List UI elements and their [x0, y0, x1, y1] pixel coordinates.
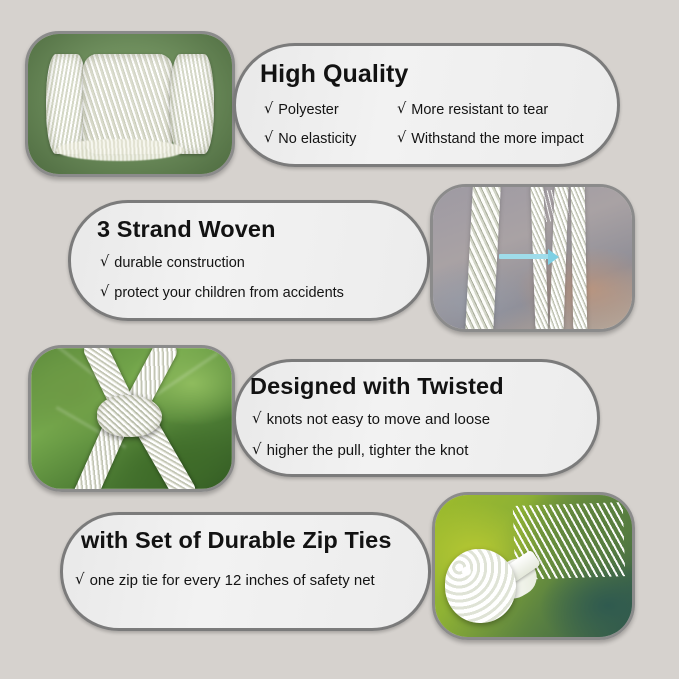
- panel-title-designed-with-twisted: Designed with Twisted: [250, 373, 504, 400]
- bullet-list-designed-with-twisted: √ knots not easy to move and loose √ hig…: [252, 410, 490, 472]
- check-icon: √: [397, 101, 406, 117]
- bullet-label: More resistant to tear: [411, 102, 548, 118]
- feature-panel-durable-zip-ties: with Set of Durable Zip Ties √ one zip t…: [60, 512, 431, 631]
- zip-tie-heads: [445, 549, 516, 623]
- bullet-label: Polyester: [278, 102, 338, 118]
- bullet-list-durable-zip-ties: √ one zip tie for every 12 inches of saf…: [75, 571, 375, 589]
- bullet-label: durable construction: [114, 255, 245, 271]
- bullet-item: √ protect your children from accidents: [100, 285, 344, 301]
- image-tile-knot-on-leaves: [28, 345, 235, 492]
- panel-title-three-strand-woven: 3 Strand Woven: [97, 216, 276, 243]
- bullet-label: protect your children from accidents: [114, 285, 344, 301]
- feature-panel-high-quality: High Quality √ Polyester √ More resistan…: [233, 43, 620, 167]
- feature-panel-three-strand-woven: 3 Strand Woven √ durable construction √ …: [68, 200, 430, 321]
- check-icon: √: [264, 101, 273, 117]
- image-tile-rope-bundle: [25, 31, 235, 177]
- knot-illustration: [31, 348, 232, 489]
- bullet-label: Withstand the more impact: [411, 131, 583, 147]
- bullet-list-high-quality: √ Polyester √ More resistant to tear √ N…: [264, 102, 604, 147]
- arrow-right-icon: [499, 254, 551, 259]
- bullet-item: √ Polyester: [264, 102, 397, 118]
- bullet-item: √ Withstand the more impact: [397, 131, 584, 147]
- bullet-item: √ No elasticity: [264, 131, 397, 147]
- rope-coils: [46, 54, 213, 155]
- knot-center: [97, 395, 161, 437]
- bullet-item: √ durable construction: [100, 255, 344, 271]
- bullet-item: √ one zip tie for every 12 inches of saf…: [75, 571, 375, 589]
- bullet-label: No elasticity: [278, 131, 356, 147]
- rope-bundle-illustration: [28, 34, 232, 174]
- panel-title-high-quality: High Quality: [260, 60, 408, 89]
- bullet-list-three-strand-woven: √ durable construction √ protect your ch…: [100, 255, 344, 315]
- bullet-item: √ higher the pull, tighter the knot: [252, 441, 490, 459]
- rope-coil-left: [46, 54, 86, 155]
- bullet-label: knots not easy to move and loose: [267, 411, 490, 428]
- check-icon: √: [100, 284, 109, 300]
- image-tile-zip-ties: [432, 492, 635, 640]
- check-icon: √: [252, 409, 262, 427]
- feature-panel-designed-with-twisted: Designed with Twisted √ knots not easy t…: [233, 359, 600, 477]
- zip-ties-illustration: [435, 495, 632, 637]
- strand-closeup-illustration: [433, 187, 632, 329]
- bullet-item: √ More resistant to tear: [397, 102, 548, 118]
- check-icon: √: [75, 570, 85, 588]
- image-tile-strand-closeup: [430, 184, 635, 332]
- bullet-item: √ knots not easy to move and loose: [252, 410, 490, 428]
- panel-title-durable-zip-ties: with Set of Durable Zip Ties: [81, 527, 392, 554]
- check-icon: √: [397, 130, 406, 146]
- bullet-label: one zip tie for every 12 inches of safet…: [90, 572, 375, 589]
- bullet-label: higher the pull, tighter the knot: [267, 442, 469, 459]
- check-icon: √: [264, 130, 273, 146]
- rope-coil-right: [170, 54, 213, 155]
- check-icon: √: [100, 254, 109, 270]
- check-icon: √: [252, 440, 262, 458]
- infographic-canvas: High Quality √ Polyester √ More resistan…: [0, 0, 679, 679]
